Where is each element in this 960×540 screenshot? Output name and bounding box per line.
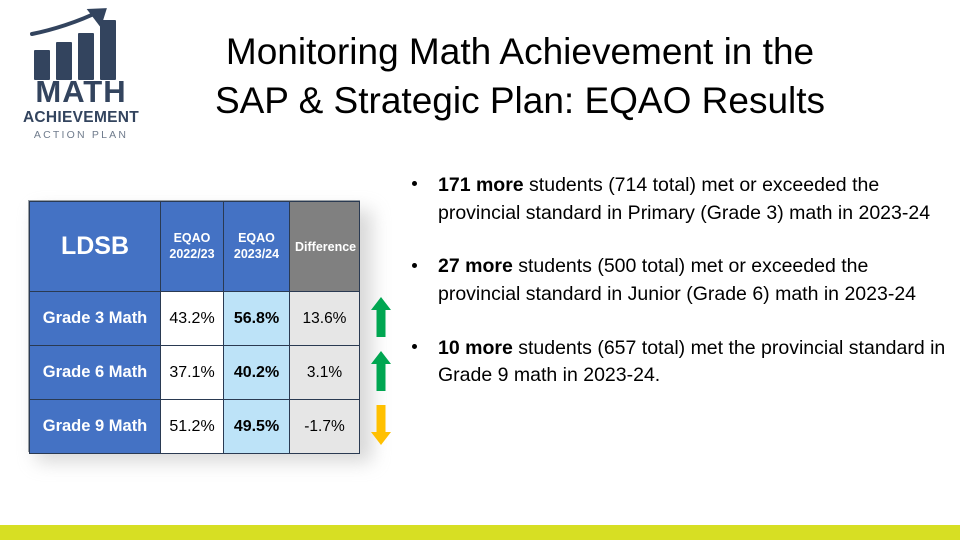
row-label-grade-6: Grade 6 Math — [30, 346, 161, 400]
column-header-eqao-2023-24: EQAO 2023/24 — [224, 202, 290, 292]
cell-grade-9-prev: 51.2% — [161, 400, 224, 454]
table-corner-label: LDSB — [30, 202, 161, 292]
bullet-3-highlight: 10 more — [438, 337, 513, 359]
list-item: 171 more students (714 total) met or exc… — [404, 172, 952, 227]
cell-grade-3-curr: 56.8% — [224, 292, 290, 346]
math-achievement-action-plan-logo: MATH ACHIEVEMENT ACTION PLAN — [16, 6, 146, 138]
logo-line-math: MATH — [16, 76, 146, 109]
column-header-prev-line2: 2022/23 — [166, 247, 218, 262]
slide-title-line-2: SAP & Strategic Plan: EQAO Results — [150, 77, 890, 126]
slide-title-line-1: Monitoring Math Achievement in the — [150, 28, 890, 77]
arrow-up-icon — [370, 350, 392, 392]
bullet-list: 171 more students (714 total) met or exc… — [404, 172, 952, 390]
cell-grade-6-curr: 40.2% — [224, 346, 290, 400]
table-row: Grade 6 Math 37.1% 40.2% 3.1% — [30, 346, 360, 400]
bar-chart-growth-icon — [26, 6, 136, 82]
trend-cell-grade-3 — [363, 290, 399, 344]
bullet-1-highlight: 171 more — [438, 174, 524, 196]
trend-arrow-group — [363, 290, 399, 454]
table-row: Grade 9 Math 51.2% 49.5% -1.7% — [30, 400, 360, 454]
table-row: Grade 3 Math 43.2% 56.8% 13.6% — [30, 292, 360, 346]
bottom-accent-bar — [0, 525, 960, 540]
arrow-up-icon — [370, 296, 392, 338]
row-label-grade-9: Grade 9 Math — [30, 400, 161, 454]
bullet-dot-icon — [412, 344, 417, 349]
cell-grade-3-diff: 13.6% — [290, 292, 360, 346]
cell-grade-6-prev: 37.1% — [161, 346, 224, 400]
list-item: 10 more students (657 total) met the pro… — [404, 335, 952, 390]
cell-grade-6-diff: 3.1% — [290, 346, 360, 400]
list-item: 27 more students (500 total) met or exce… — [404, 253, 952, 308]
row-label-grade-3: Grade 3 Math — [30, 292, 161, 346]
column-header-eqao-2022-23: EQAO 2022/23 — [161, 202, 224, 292]
column-header-difference: Difference — [290, 202, 360, 292]
logo-wordmark: MATH ACHIEVEMENT ACTION PLAN — [16, 76, 146, 141]
bullet-2-highlight: 27 more — [438, 255, 513, 277]
slide-canvas: MATH ACHIEVEMENT ACTION PLAN Monitoring … — [0, 0, 960, 540]
slide-title: Monitoring Math Achievement in the SAP &… — [150, 28, 890, 126]
eqao-results-table: LDSB EQAO 2022/23 EQAO 2023/24 Differenc… — [29, 201, 360, 454]
arrow-down-icon — [370, 404, 392, 446]
bullet-dot-icon — [412, 181, 417, 186]
trend-cell-grade-6 — [363, 344, 399, 398]
cell-grade-3-prev: 43.2% — [161, 292, 224, 346]
bullet-3-text: students (657 total) met the provincial … — [438, 337, 945, 387]
table-header-row: LDSB EQAO 2022/23 EQAO 2023/24 Differenc… — [30, 202, 360, 292]
cell-grade-9-curr: 49.5% — [224, 400, 290, 454]
logo-line-action-plan: ACTION PLAN — [16, 130, 146, 141]
trend-cell-grade-9 — [363, 398, 399, 452]
column-header-curr-line2: 2023/24 — [229, 247, 284, 262]
eqao-results-table-container: LDSB EQAO 2022/23 EQAO 2023/24 Differenc… — [28, 200, 360, 452]
column-header-curr-line1: EQAO — [229, 231, 284, 246]
cell-grade-9-diff: -1.7% — [290, 400, 360, 454]
column-header-prev-line1: EQAO — [166, 231, 218, 246]
bullet-dot-icon — [412, 263, 417, 268]
logo-line-achievement: ACHIEVEMENT — [16, 110, 146, 126]
